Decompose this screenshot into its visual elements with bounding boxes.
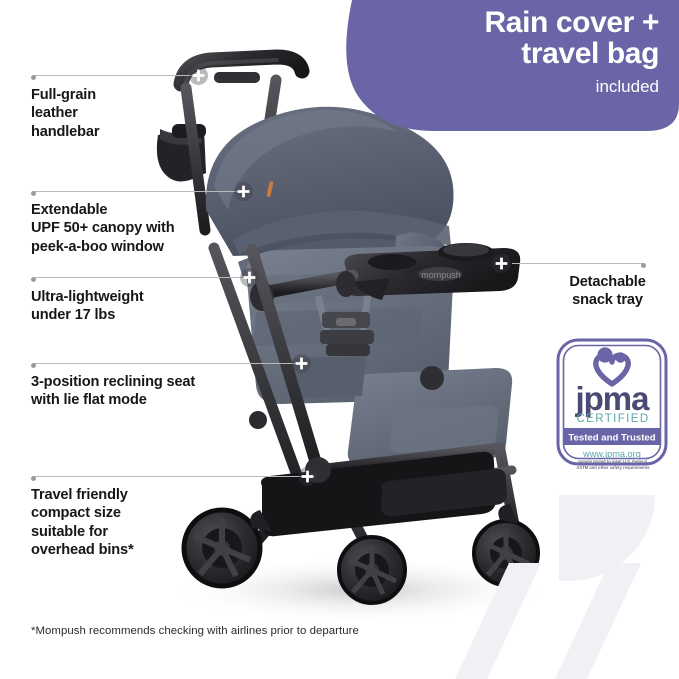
callout-dot <box>31 277 36 282</box>
callout-label-canopy: Extendable UPF 50+ canopy with peek-a-bo… <box>31 201 241 256</box>
callout-label-weight: Ultra-lightweight under 17 lbs <box>31 288 231 325</box>
callout-line <box>33 476 302 477</box>
svg-text:www.jpma.org: www.jpma.org <box>582 449 641 459</box>
svg-text:jpma: jpma <box>574 380 650 417</box>
background-watermark <box>359 489 679 679</box>
callout-line <box>512 263 644 264</box>
callout-dot <box>31 476 36 481</box>
callout-line <box>33 75 198 76</box>
callout-line <box>33 277 244 278</box>
footnote-text: *Mompush recommends checking with airlin… <box>31 625 359 637</box>
svg-text:Tested and Trusted: Tested and Trusted <box>568 433 655 444</box>
hotspot-plus-icon-compact[interactable] <box>298 467 317 486</box>
hotspot-plus-icon-weight[interactable] <box>240 268 259 287</box>
callout-dot <box>31 191 36 196</box>
hotspot-plus-icon-recline[interactable] <box>292 354 311 373</box>
callout-dot <box>641 263 646 268</box>
jpma-fine-print: sample tested to meet U.S. Federal, ASTM… <box>553 459 673 471</box>
callout-line <box>33 363 296 364</box>
hotspot-plus-icon-canopy[interactable] <box>234 182 253 201</box>
callout-dot <box>31 363 36 368</box>
callout-line <box>33 191 238 192</box>
infographic-canvas: mompush <box>0 0 679 679</box>
callout-label-handlebar: Full-grain leather handlebar <box>31 86 181 141</box>
svg-text:mompush: mompush <box>421 270 461 280</box>
hotspot-plus-icon-snack-tray[interactable] <box>492 254 511 273</box>
callout-label-snack-tray: Detachable snack tray <box>545 273 670 310</box>
promo-banner-subtitle: included <box>367 78 659 96</box>
callout-label-recline: 3-position reclining seat with lie flat … <box>31 373 271 410</box>
svg-text:CERTIFIED: CERTIFIED <box>576 413 649 425</box>
promo-banner-title: Rain cover + travel bag <box>367 8 659 70</box>
callout-label-compact: Travel friendly compact size suitable fo… <box>31 486 211 560</box>
callout-dot <box>31 75 36 80</box>
promo-banner: Rain cover + travel bag included <box>344 0 679 128</box>
hotspot-plus-icon-handlebar[interactable] <box>189 66 208 85</box>
promo-banner-shape <box>346 0 679 131</box>
